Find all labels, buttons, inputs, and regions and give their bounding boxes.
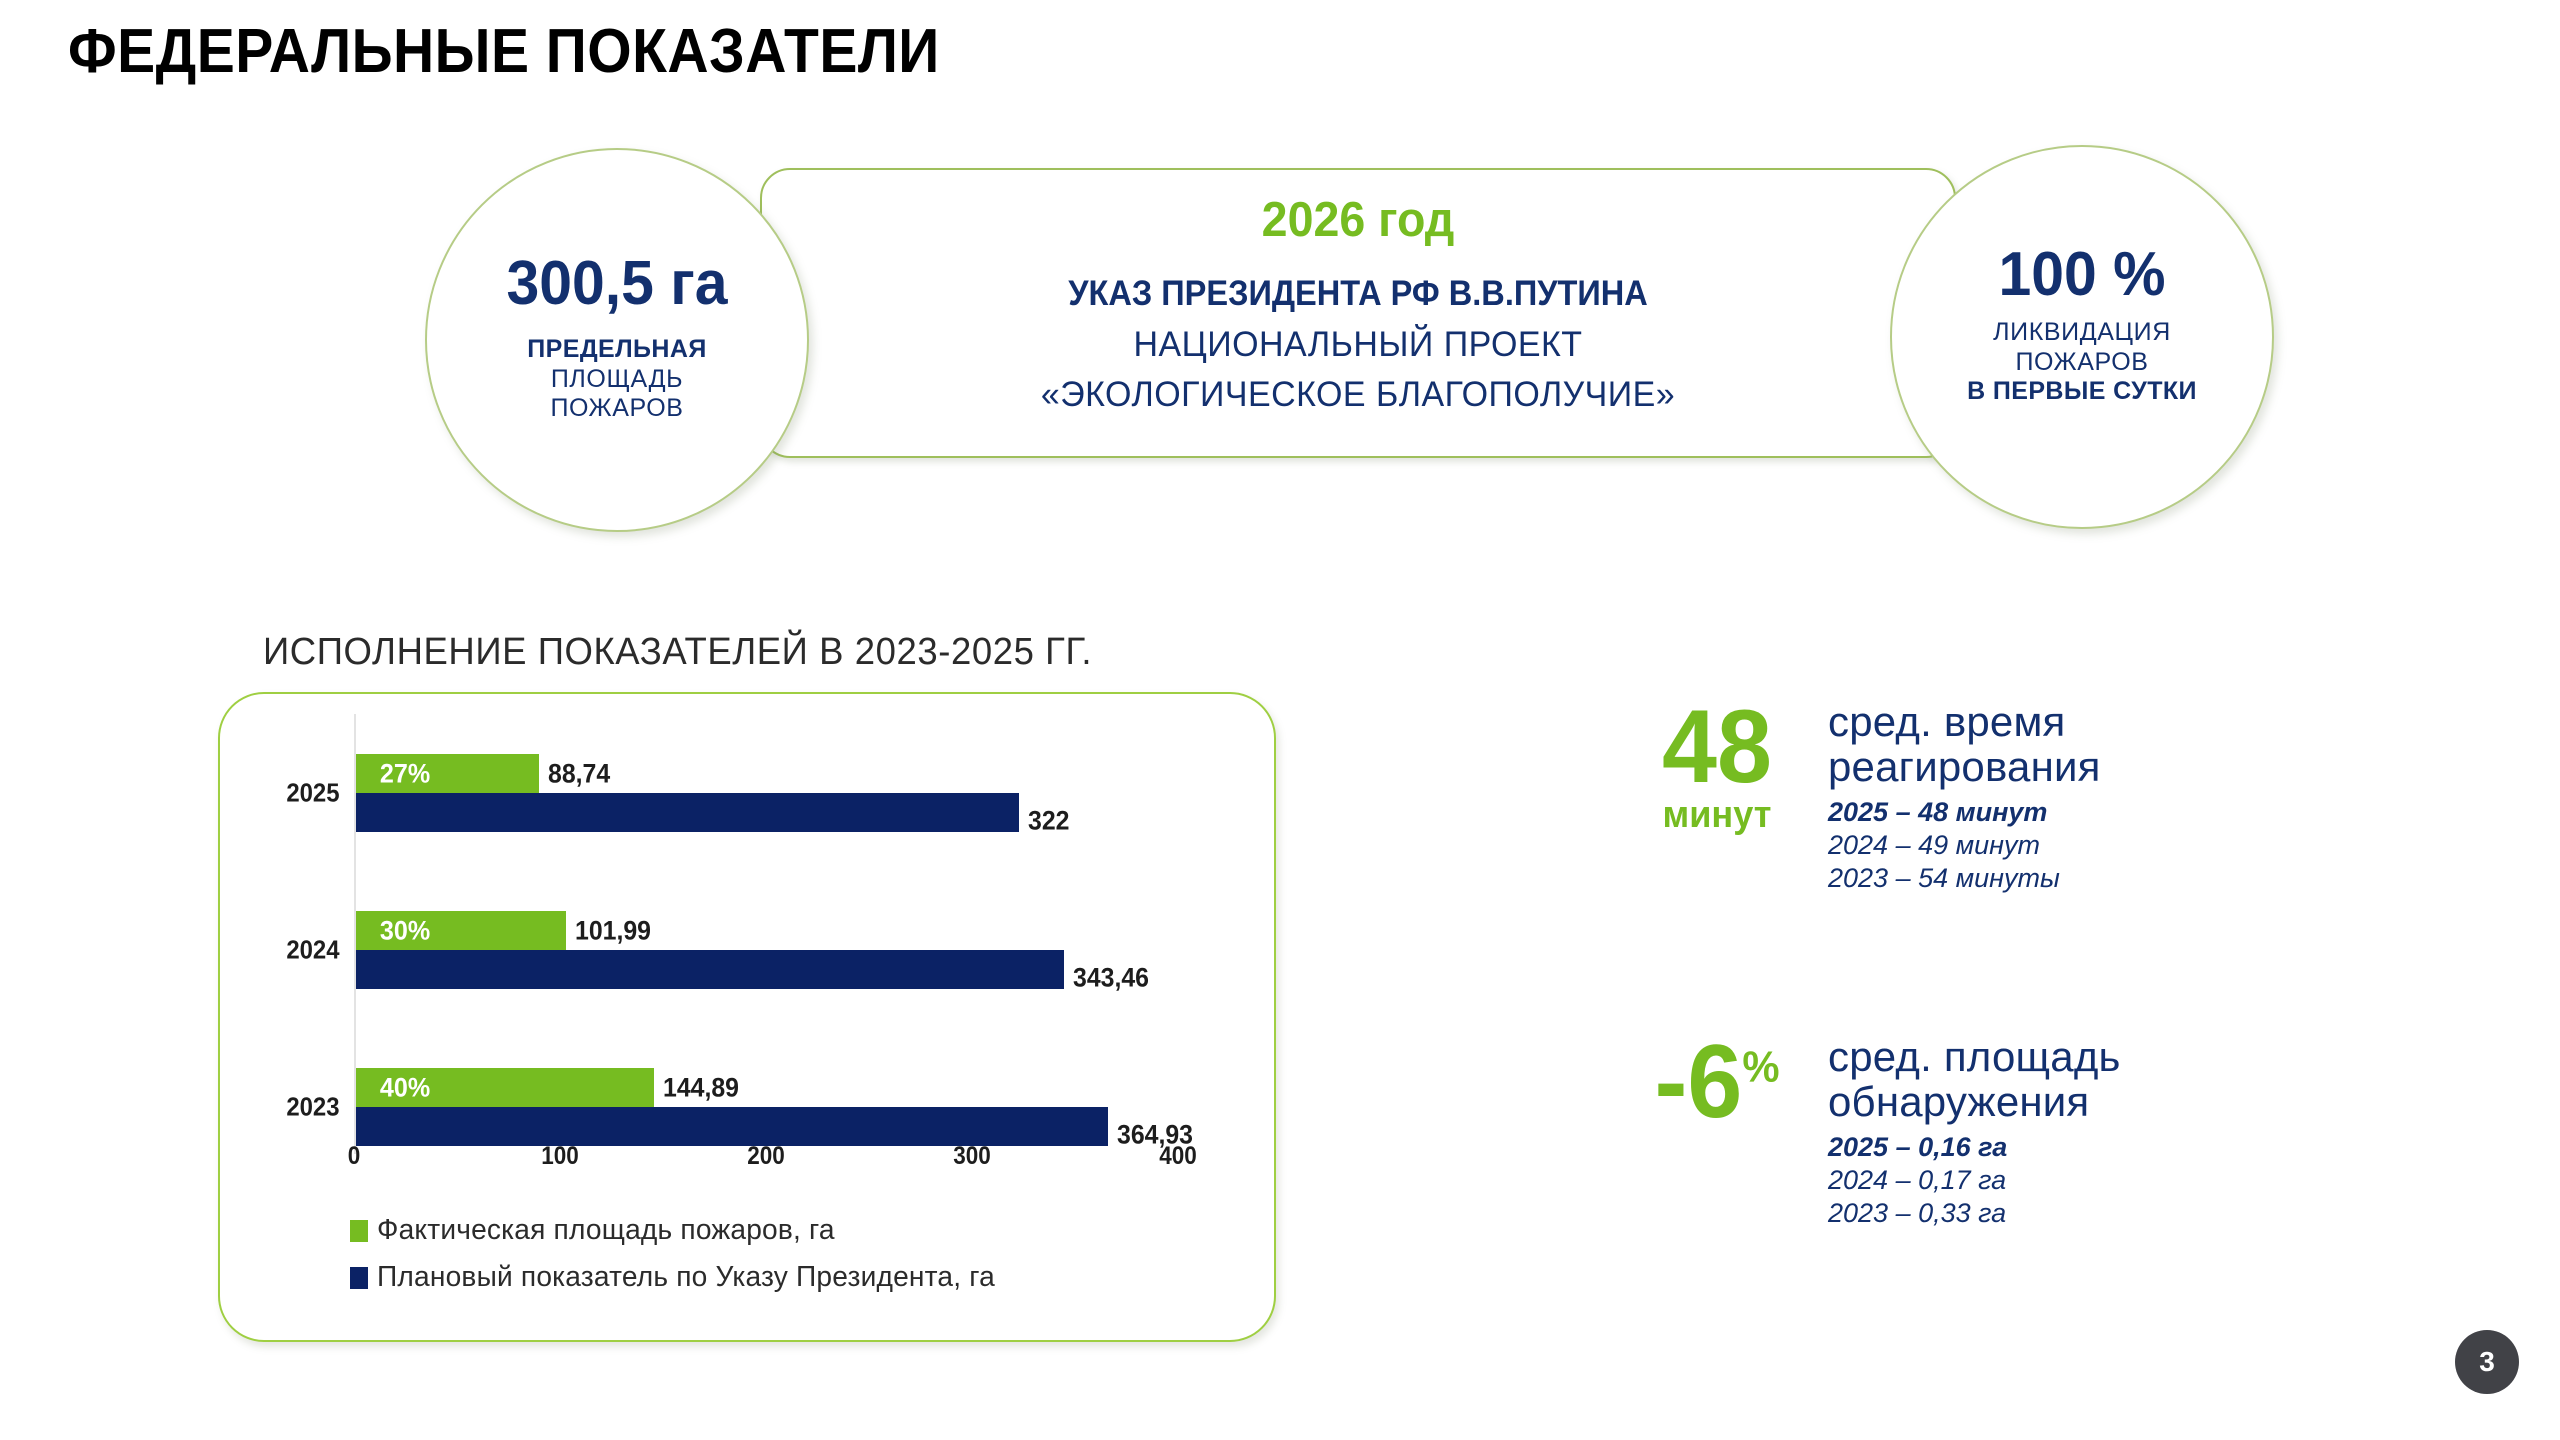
stat-heading-line: сред. площадь — [1828, 1035, 2298, 1080]
stat-figure-unit: минут — [1627, 796, 1808, 834]
kpi-left-sub-line2: ПОЖАРОВ — [427, 394, 807, 424]
chart-bar-2025-actual: 27%88,74 — [356, 754, 539, 793]
banner-decree-line: УКАЗ ПРЕЗИДЕНТА РФ В.В.ПУТИНА — [804, 274, 1913, 314]
chart-bar-2024-plan: 343,46 — [356, 950, 1064, 989]
chart-x-tick: 0 — [348, 1142, 361, 1171]
chart-x-tick: 100 — [541, 1142, 579, 1171]
legend-swatch-icon — [350, 1267, 368, 1289]
stat-year-list: 2025 – 0,16 га2024 – 0,17 га2023 – 0,33 … — [1828, 1131, 2298, 1230]
chart-value-label: 322 — [1028, 806, 1069, 837]
chart-card: 202527%88,74322202430%101,99343,46202340… — [218, 692, 1276, 1342]
chart-x-tick: 300 — [953, 1142, 991, 1171]
banner-project-name: «ЭКОЛОГИЧЕСКОЕ БЛАГОПОЛУЧИЕ» — [780, 375, 1936, 415]
kpi-circle-liquidation: 100 % ЛИКВИДАЦИЯ ПОЖАРОВ В ПЕРВЫЕ СУТКИ — [1890, 145, 2274, 529]
kpi-right-sub-line1: ЛИКВИДАЦИЯ — [1892, 318, 2272, 348]
chart-value-label: 101,99 — [575, 915, 651, 946]
stat-year-item: 2025 – 48 минут — [1828, 796, 2298, 829]
chart-plot-area: 202527%88,74322202430%101,99343,46202340… — [354, 714, 1180, 1154]
legend-label: Фактическая площадь пожаров, га — [377, 1214, 835, 1247]
decree-banner: 2026 год УКАЗ ПРЕЗИДЕНТА РФ В.В.ПУТИНА Н… — [760, 168, 1956, 458]
kpi-left-content: 300,5 га ПРЕДЕЛЬНАЯ ПЛОЩАДЬ ПОЖАРОВ — [427, 253, 807, 424]
stat-heading-line: обнаружения — [1828, 1080, 2298, 1125]
chart-value-label: 343,46 — [1073, 963, 1149, 994]
chart-group-2025: 202527%88,74322 — [356, 754, 1180, 832]
chart-group-2023: 202340%144,89364,93 — [356, 1068, 1180, 1146]
chart-category-label: 2023 — [286, 1092, 339, 1123]
stat-figure-value: 48 — [1627, 700, 1808, 796]
kpi-right-content: 100 % ЛИКВИДАЦИЯ ПОЖАРОВ В ПЕРВЫЕ СУТКИ — [1892, 244, 2272, 407]
chart-bar-2024-actual: 30%101,99 — [356, 911, 566, 950]
chart-category-label: 2024 — [286, 935, 339, 966]
page-number-badge: 3 — [2455, 1330, 2519, 1394]
chart-legend-item[interactable]: Плановый показатель по Указу Президента,… — [350, 1261, 1014, 1294]
chart-bar-2025-plan: 322 — [356, 793, 1019, 832]
chart-legend-item[interactable]: Фактическая площадь пожаров, га — [350, 1214, 1014, 1247]
stat-heading-line: реагирования — [1828, 745, 2298, 790]
chart-value-label: 144,89 — [663, 1072, 739, 1103]
kpi-right-sub-bold: В ПЕРВЫЕ СУТКИ — [1892, 377, 2272, 407]
stat-year-item: 2023 – 0,33 га — [1828, 1197, 2298, 1230]
stat-figure-value: -6% — [1627, 1035, 1808, 1131]
chart-category-label: 2025 — [286, 778, 339, 809]
page-title: ФЕДЕРАЛЬНЫЕ ПОКАЗАТЕЛИ — [68, 16, 940, 87]
chart-title: ИСПОЛНЕНИЕ ПОКАЗАТЕЛЕЙ В 2023-2025 ГГ. — [263, 631, 1092, 674]
kpi-left-sub-line1: ПЛОЩАДЬ — [427, 365, 807, 395]
chart-x-tick: 400 — [1159, 1142, 1197, 1171]
chart-group-2024: 202430%101,99343,46 — [356, 911, 1180, 989]
stat-year-item: 2024 – 49 минут — [1828, 829, 2298, 862]
kpi-left-sub-bold: ПРЕДЕЛЬНАЯ — [427, 335, 807, 365]
stat-text: сред. времяреагирования2025 – 48 минут20… — [1828, 700, 2298, 895]
chart-percent-label: 27% — [380, 758, 430, 789]
chart-bar-2023-actual: 40%144,89 — [356, 1068, 654, 1107]
kpi-right-sub-line2: ПОЖАРОВ — [1892, 348, 2272, 378]
stat-year-list: 2025 – 48 минут2024 – 49 минут2023 – 54 … — [1828, 796, 2298, 895]
stat-year-item: 2025 – 0,16 га — [1828, 1131, 2298, 1164]
slide-root: ФЕДЕРАЛЬНЫЕ ПОКАЗАТЕЛИ 2026 год УКАЗ ПРЕ… — [0, 0, 2560, 1440]
chart-x-tick: 200 — [747, 1142, 785, 1171]
stat-figure-percent-sign: % — [1742, 1042, 1779, 1091]
legend-label: Плановый показатель по Указу Президента,… — [377, 1261, 995, 1294]
banner-project-line: НАЦИОНАЛЬНЫЙ ПРОЕКТ — [780, 325, 1936, 365]
chart-percent-label: 40% — [380, 1072, 430, 1103]
stat-figure: -6% — [1622, 1035, 1812, 1131]
legend-swatch-icon — [350, 1220, 368, 1242]
chart-legend: Фактическая площадь пожаров, гаПлановый … — [350, 1214, 1014, 1308]
stat-figure: 48минут — [1622, 700, 1812, 834]
chart-value-label: 88,74 — [548, 758, 610, 789]
chart-bar-2023-plan: 364,93 — [356, 1107, 1108, 1146]
stat-year-item: 2024 – 0,17 га — [1828, 1164, 2298, 1197]
stat-text: сред. площадьобнаружения2025 – 0,16 га20… — [1828, 1035, 2298, 1230]
kpi-left-value: 300,5 га — [437, 253, 798, 315]
stat-heading-line: сред. время — [1828, 700, 2298, 745]
chart-percent-label: 30% — [380, 915, 430, 946]
chart-x-axis: 0100200300400 — [220, 1142, 1274, 1176]
kpi-right-value: 100 % — [1902, 244, 2263, 306]
stat-year-item: 2023 – 54 минуты — [1828, 862, 2298, 895]
kpi-circle-max-area: 300,5 га ПРЕДЕЛЬНАЯ ПЛОЩАДЬ ПОЖАРОВ — [425, 148, 809, 532]
banner-year: 2026 год — [792, 192, 1924, 248]
